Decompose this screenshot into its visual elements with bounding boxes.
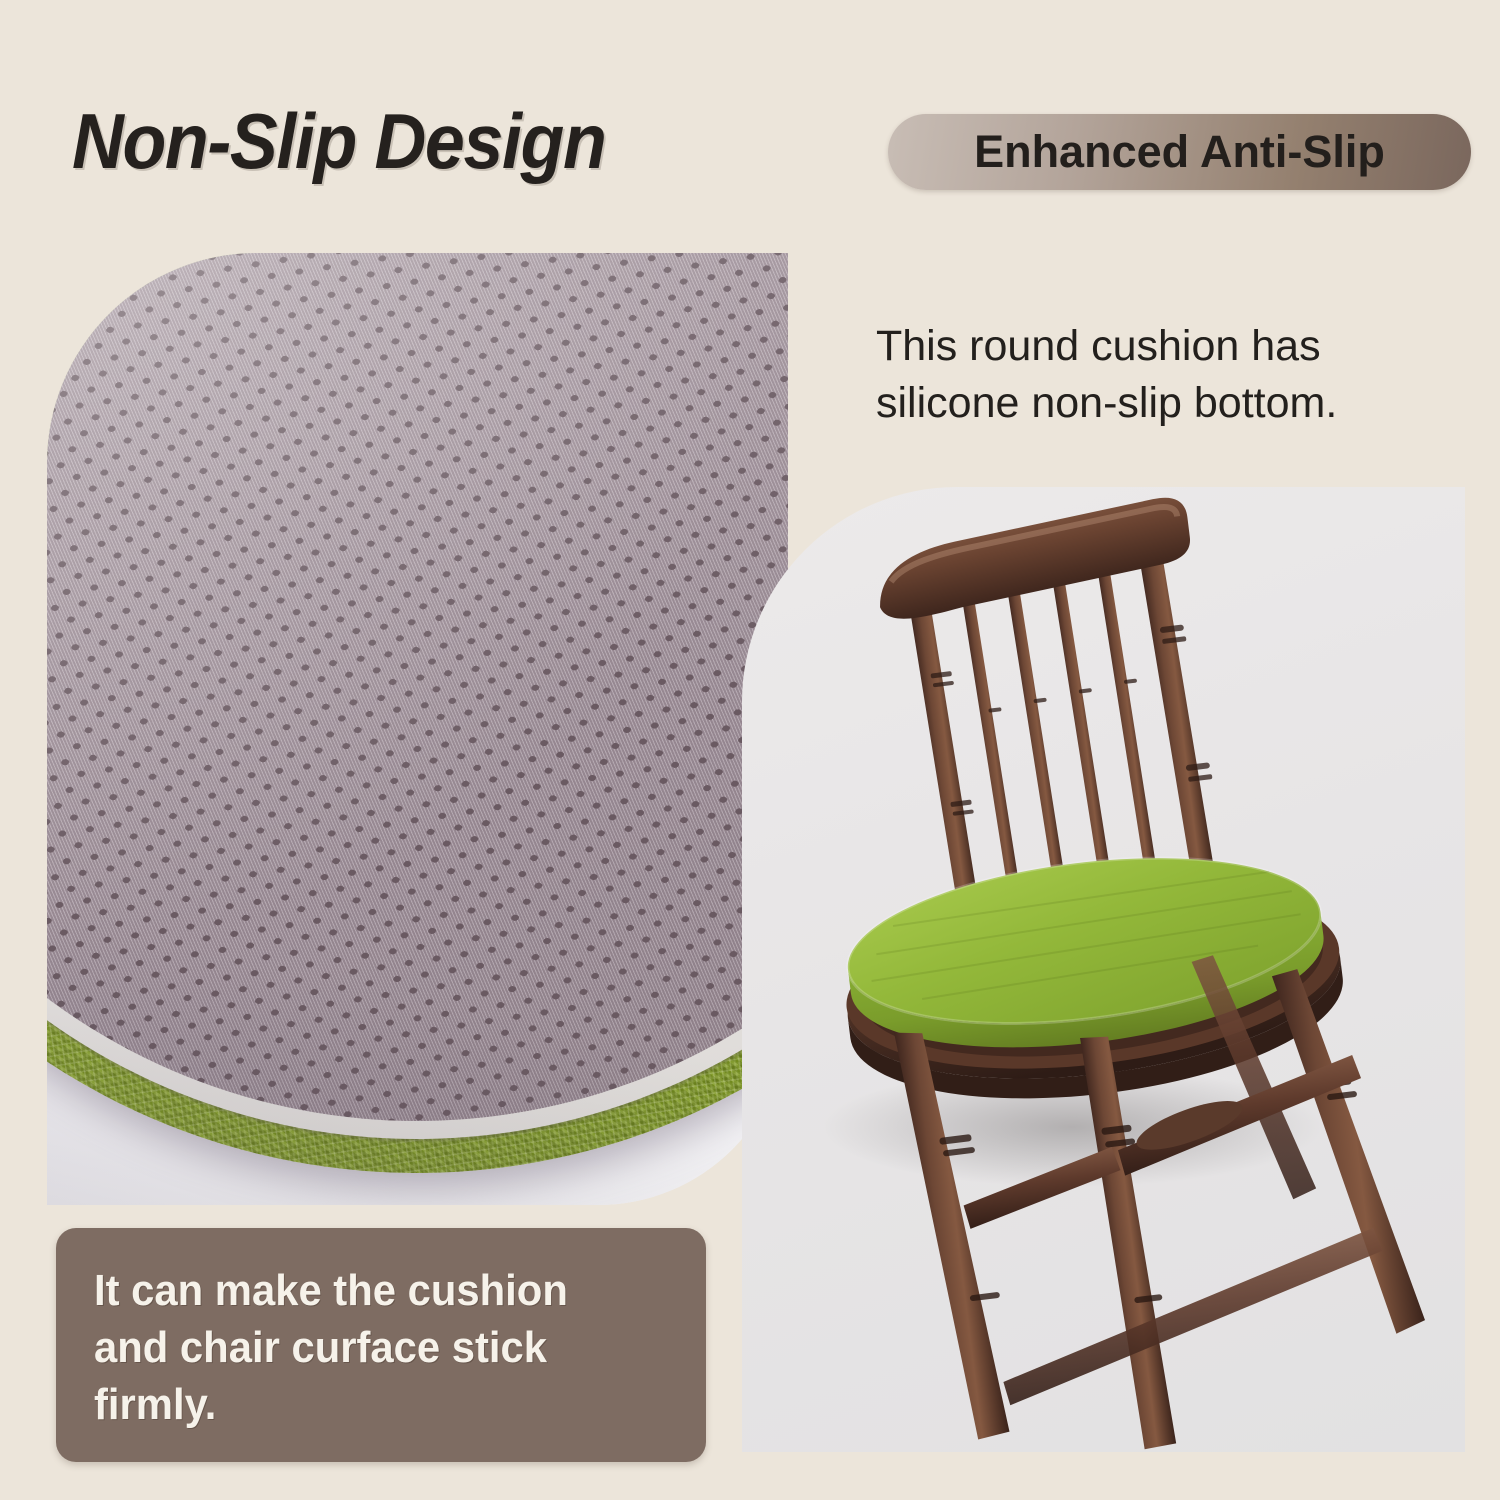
status-badge-label: Enhanced Anti-Slip: [974, 126, 1385, 178]
description-text: This round cushion has silicone non-slip…: [876, 318, 1476, 432]
caption-box: It can make the cushion and chair curfac…: [56, 1228, 706, 1462]
caption-text: It can make the cushion and chair curfac…: [94, 1262, 639, 1434]
chair-stage: [742, 487, 1465, 1452]
chair-photo: [742, 487, 1465, 1452]
chair-illustration: [742, 487, 1465, 1452]
cushion-disc: [47, 253, 788, 1205]
header: Non-Slip Design Enhanced Anti-Slip: [0, 0, 1500, 230]
cushion-silicone-dot-surface: [47, 253, 788, 1205]
status-badge: Enhanced Anti-Slip: [888, 114, 1471, 190]
page-title: Non-Slip Design: [72, 96, 605, 187]
cushion-underside-photo: [47, 253, 788, 1205]
